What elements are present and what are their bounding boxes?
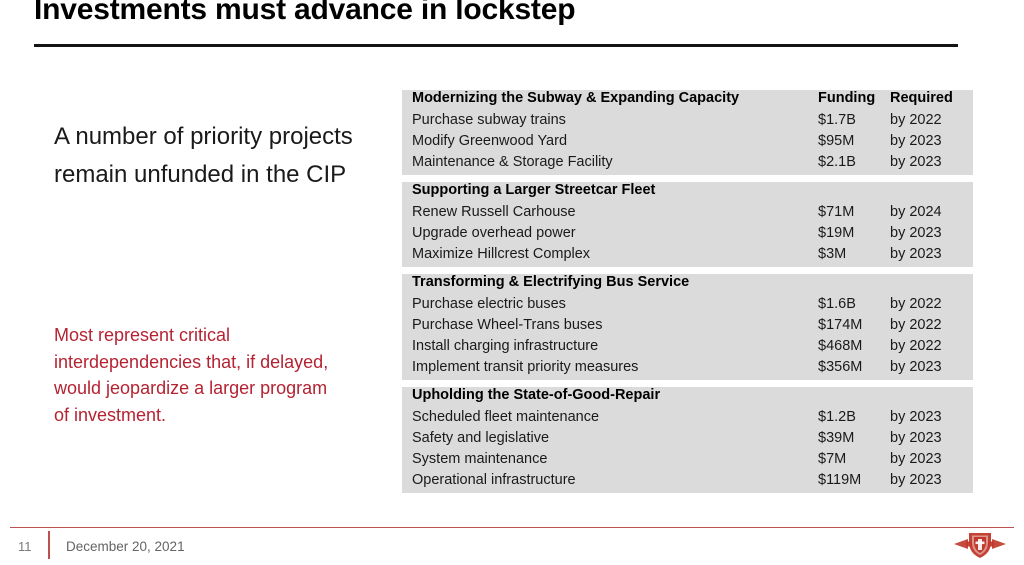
table-row: Implement transit priority measures$356M… [402, 359, 973, 380]
project-funding: $1.2B [818, 409, 890, 425]
footer-vertical-divider [48, 531, 50, 559]
project-name: Modify Greenwood Yard [412, 133, 818, 149]
project-name: Upgrade overhead power [412, 225, 818, 241]
project-required-by: by 2022 [890, 338, 970, 354]
project-name: Purchase Wheel-Trans buses [412, 317, 818, 333]
project-name: Maintenance & Storage Facility [412, 154, 818, 170]
table-row: Maximize Hillcrest Complex$3Mby 2023 [402, 246, 973, 267]
title-divider [34, 44, 958, 47]
table-row: Maintenance & Storage Facility$2.1Bby 20… [402, 154, 973, 175]
table-section: Supporting a Larger Streetcar FleetRenew… [402, 182, 973, 267]
section-heading: Upholding the State-of-Good-Repair [412, 387, 818, 403]
project-required-by: by 2023 [890, 430, 970, 446]
project-funding: $174M [818, 317, 890, 333]
project-required-by: by 2022 [890, 296, 970, 312]
table-section-header: Transforming & Electrifying Bus Service [402, 274, 973, 296]
project-name: Maximize Hillcrest Complex [412, 246, 818, 262]
project-name: Implement transit priority measures [412, 359, 818, 375]
project-funding: $1.7B [818, 112, 890, 128]
table-row: Install charging infrastructure$468Mby 2… [402, 338, 973, 359]
project-name: System maintenance [412, 451, 818, 467]
ttc-logo [952, 527, 1008, 563]
project-name: Operational infrastructure [412, 472, 818, 488]
project-name: Safety and legislative [412, 430, 818, 446]
table-row: Purchase Wheel-Trans buses$174Mby 2022 [402, 317, 973, 338]
project-required-by: by 2022 [890, 317, 970, 333]
table-section-header: Upholding the State-of-Good-Repair [402, 387, 973, 409]
section-heading: Transforming & Electrifying Bus Service [412, 274, 818, 290]
project-required-by: by 2023 [890, 133, 970, 149]
section-heading: Supporting a Larger Streetcar Fleet [412, 182, 818, 198]
project-name: Renew Russell Carhouse [412, 204, 818, 220]
project-name: Scheduled fleet maintenance [412, 409, 818, 425]
footer-divider-line [10, 527, 1014, 528]
required-column-header: Required [890, 90, 970, 106]
table-row: Upgrade overhead power$19Mby 2023 [402, 225, 973, 246]
section-heading: Modernizing the Subway & Expanding Capac… [412, 90, 818, 106]
project-required-by: by 2023 [890, 359, 970, 375]
project-funding: $468M [818, 338, 890, 354]
table-row: Scheduled fleet maintenance$1.2Bby 2023 [402, 409, 973, 430]
project-funding: $71M [818, 204, 890, 220]
note-statement: Most represent critical interdependencie… [54, 322, 344, 428]
project-required-by: by 2023 [890, 409, 970, 425]
project-funding: $119M [818, 472, 890, 488]
unfunded-projects-table: Modernizing the Subway & Expanding Capac… [402, 90, 973, 493]
project-funding: $3M [818, 246, 890, 262]
table-row: Renew Russell Carhouse$71Mby 2024 [402, 204, 973, 225]
project-funding: $2.1B [818, 154, 890, 170]
table-row: Modify Greenwood Yard$95Mby 2023 [402, 133, 973, 154]
project-required-by: by 2024 [890, 204, 970, 220]
project-funding: $1.6B [818, 296, 890, 312]
table-row: Operational infrastructure$119Mby 2023 [402, 472, 973, 493]
project-funding: $19M [818, 225, 890, 241]
project-required-by: by 2023 [890, 246, 970, 262]
page-title: Investments must advance in lockstep [34, 0, 964, 29]
project-required-by: by 2023 [890, 154, 970, 170]
project-required-by: by 2023 [890, 225, 970, 241]
table-section-header: Modernizing the Subway & Expanding Capac… [402, 90, 973, 112]
project-funding: $7M [818, 451, 890, 467]
project-name: Purchase subway trains [412, 112, 818, 128]
table-section: Modernizing the Subway & Expanding Capac… [402, 90, 973, 175]
funding-column-header: Funding [818, 90, 890, 106]
page-number: 11 [18, 539, 32, 554]
table-section: Transforming & Electrifying Bus ServiceP… [402, 274, 973, 380]
table-row: Safety and legislative$39Mby 2023 [402, 430, 973, 451]
project-funding: $95M [818, 133, 890, 149]
project-name: Install charging infrastructure [412, 338, 818, 354]
project-required-by: by 2023 [890, 472, 970, 488]
lead-statement: A number of priority projects remain unf… [54, 118, 354, 194]
project-name: Purchase electric buses [412, 296, 818, 312]
table-section: Upholding the State-of-Good-RepairSchedu… [402, 387, 973, 493]
project-funding: $39M [818, 430, 890, 446]
project-required-by: by 2022 [890, 112, 970, 128]
project-required-by: by 2023 [890, 451, 970, 467]
footer-date: December 20, 2021 [66, 539, 185, 554]
table-section-header: Supporting a Larger Streetcar Fleet [402, 182, 973, 204]
table-row: System maintenance$7Mby 2023 [402, 451, 973, 472]
table-row: Purchase subway trains$1.7Bby 2022 [402, 112, 973, 133]
table-row: Purchase electric buses$1.6Bby 2022 [402, 296, 973, 317]
slide-canvas: Investments must advance in lockstep A n… [0, 0, 1024, 565]
project-funding: $356M [818, 359, 890, 375]
